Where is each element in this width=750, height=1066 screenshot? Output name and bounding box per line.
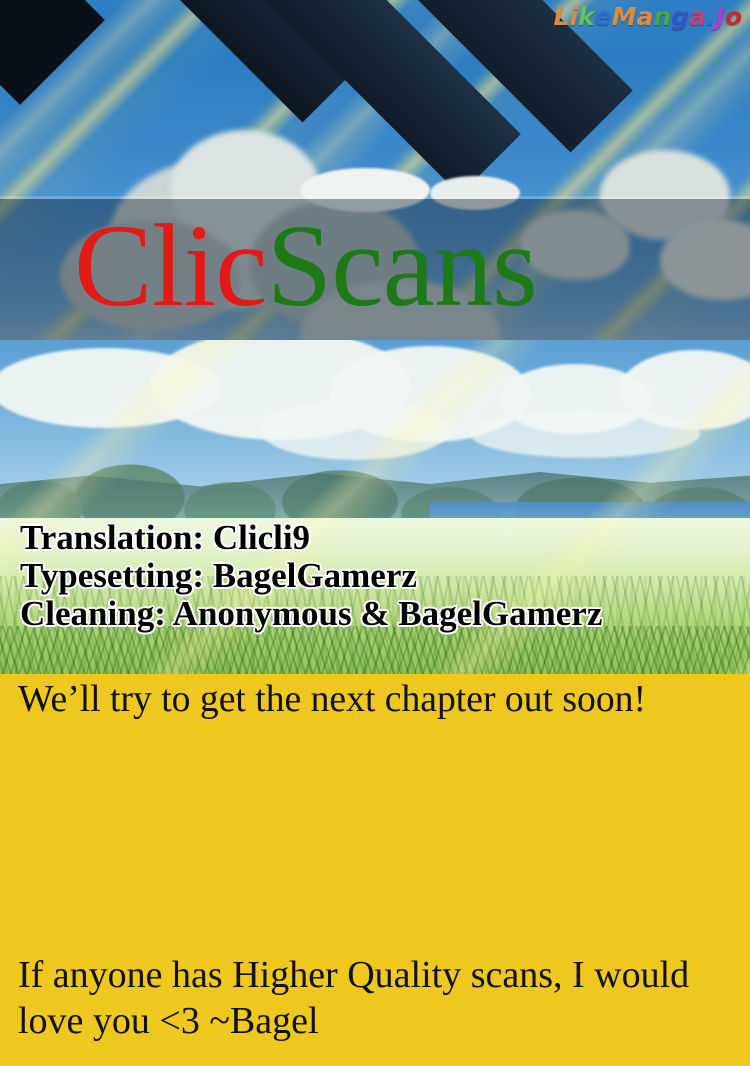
next-chapter-note: We’ll try to get the next chapter out so… — [18, 678, 646, 720]
watermark-letter: . — [706, 2, 716, 31]
likemanga-watermark: LikeManga.Jo — [554, 2, 742, 31]
logo-scans-text: Scans — [267, 200, 537, 331]
credits-block: Translation: Clicli9 Typesetting: BagelG… — [20, 519, 602, 633]
clicscans-logo: ClicScans — [74, 207, 537, 325]
watermark-letter: g — [671, 2, 689, 31]
watermark-letter: k — [578, 2, 595, 31]
watermark-letter: M — [612, 2, 637, 31]
grass-texture-lower — [0, 626, 750, 674]
watermark-letter: a — [689, 2, 706, 31]
credit-translation: Translation: Clicli9 — [20, 519, 602, 557]
watermark-letter: a — [637, 2, 654, 31]
scanlation-credits-page: ClicScans LikeManga.Jo Translation: Clic… — [0, 0, 750, 1066]
closing-note: If anyone has Higher Quality scans, I wo… — [18, 952, 718, 1044]
logo-clic-text: Clic — [74, 200, 267, 331]
credit-typesetting: Typesetting: BagelGamerz — [20, 557, 602, 595]
watermark-letter: J — [716, 2, 725, 31]
watermark-letter: L — [554, 2, 570, 31]
watermark-letter: e — [595, 2, 612, 31]
credit-cleaning: Cleaning: Anonymous & BagelGamerz — [20, 595, 602, 633]
yellow-notes-panel: We’ll try to get the next chapter out so… — [0, 674, 750, 1066]
watermark-letter: i — [569, 2, 578, 31]
watermark-letter: n — [653, 2, 671, 31]
watermark-letter: o — [725, 2, 742, 31]
